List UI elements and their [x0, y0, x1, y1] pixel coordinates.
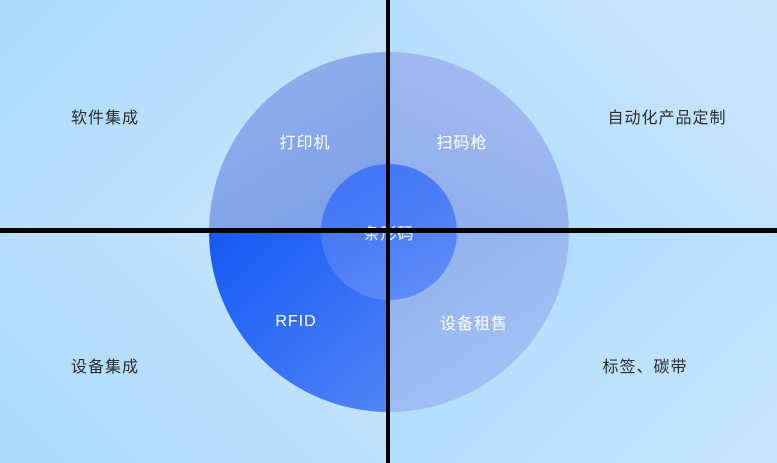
- ring-label-printer: 打印机: [279, 129, 330, 153]
- diagram-canvas: 条形码 打印机 扫码枪 RFID 设备租售 软件集成 自动化产品定制 设备集成 …: [0, 0, 777, 463]
- ring-label-rfid: RFID: [275, 313, 316, 331]
- outer-label-software-integration: 软件集成: [71, 104, 139, 128]
- outer-label-labels-ribbons: 标签、碳带: [602, 353, 687, 377]
- ring-label-equip-rental: 设备租售: [440, 310, 508, 334]
- outer-label-automation-customize: 自动化产品定制: [607, 104, 726, 128]
- ring-label-scanner: 扫码枪: [436, 129, 487, 153]
- horizontal-axis-line: [0, 228, 777, 233]
- outer-label-equipment-integration: 设备集成: [71, 353, 139, 377]
